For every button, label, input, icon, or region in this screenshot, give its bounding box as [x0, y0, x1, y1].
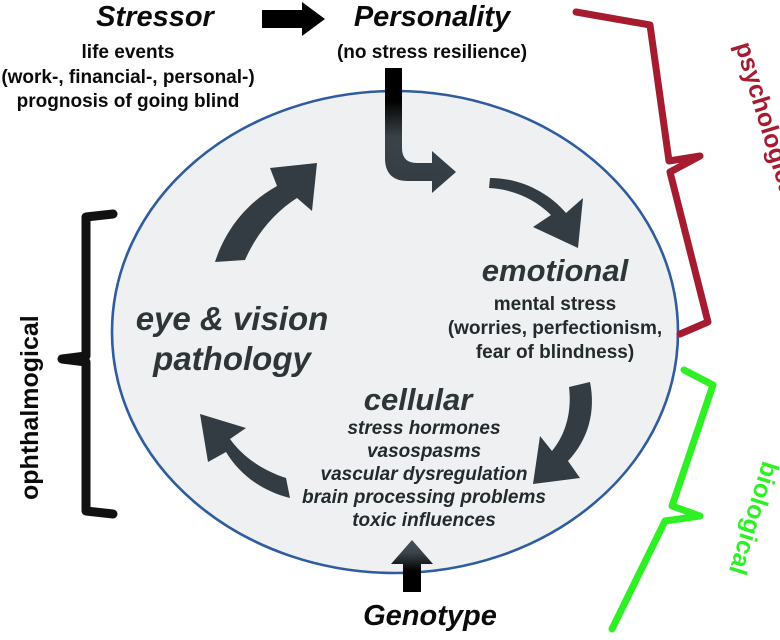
- cellular-detail-2: vasospasms: [367, 441, 481, 462]
- cellular-detail-5: toxic influences: [352, 510, 496, 531]
- cellular-detail-4: brain processing problems: [302, 487, 546, 508]
- cellular-detail-1: stress hormones: [347, 418, 500, 439]
- stressor-heading: Stressor: [96, 1, 215, 33]
- emotional-detail-3: fear of blindness): [476, 342, 634, 363]
- stressor-line-2: (work-, financial-, personal-): [1, 67, 254, 88]
- genotype-heading: Genotype: [363, 600, 497, 632]
- stress-cycle-diagram: Stressor life events (work-, financial-,…: [0, 0, 780, 640]
- personality-subtitle: (no stress resilience): [337, 42, 527, 63]
- personality-block: Personality (no stress resilience): [337, 1, 527, 63]
- emotional-detail-2: (worries, perfectionism,: [448, 318, 662, 339]
- stressor-line-3: prognosis of going blind: [17, 91, 240, 112]
- eye-vision-heading-line-2: pathology: [152, 340, 312, 377]
- emotional-heading: emotional: [482, 253, 630, 288]
- eye-vision-heading-line-1: eye & vision: [136, 300, 329, 337]
- bracket-label-ophthalmogical: ophthalmogical: [16, 315, 44, 500]
- cellular-heading: cellular: [364, 382, 474, 417]
- personality-heading: Personality: [354, 1, 512, 33]
- stressor-line-1: life events: [82, 42, 175, 63]
- emotional-detail-1: mental stress: [494, 294, 617, 315]
- cellular-detail-3: vascular dysregulation: [321, 464, 528, 485]
